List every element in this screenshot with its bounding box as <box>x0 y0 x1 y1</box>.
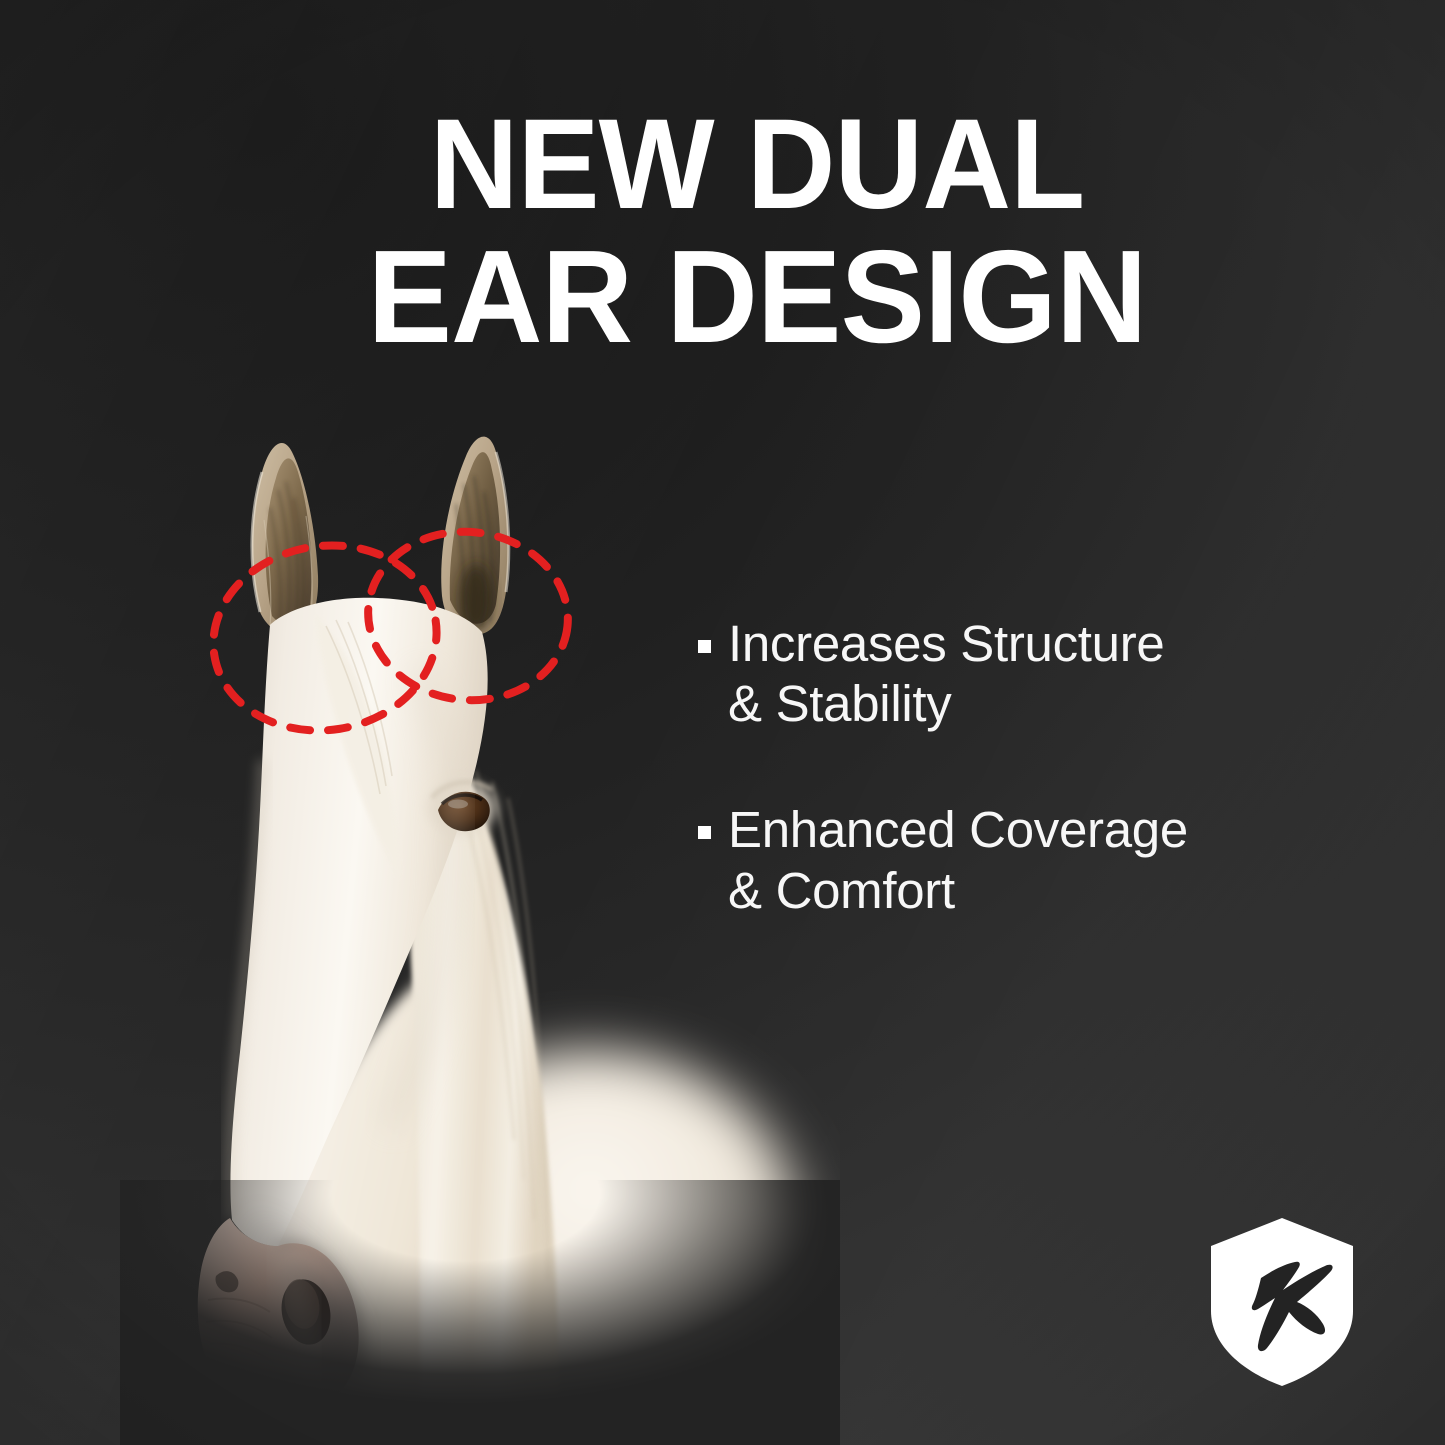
list-item-label: Enhanced Coverage & Comfort <box>728 800 1188 920</box>
ad-creative-canvas: NEW DUAL EAR DESIGN Increases Structure … <box>0 0 1445 1445</box>
square-bullet-icon <box>698 826 711 839</box>
list-item: Enhanced Coverage & Comfort <box>698 800 1348 920</box>
page-title-line-1: NEW DUAL <box>311 104 1204 226</box>
page-title-line-2: EAR DESIGN <box>311 234 1204 359</box>
list-item: Increases Structure & Stability <box>698 614 1348 734</box>
brand-logo <box>1203 1216 1361 1388</box>
square-bullet-icon <box>698 640 711 653</box>
page-title: NEW DUAL EAR DESIGN <box>311 104 1204 359</box>
feature-list: Increases Structure & Stability Enhanced… <box>698 614 1348 987</box>
list-item-label: Increases Structure & Stability <box>728 614 1165 734</box>
